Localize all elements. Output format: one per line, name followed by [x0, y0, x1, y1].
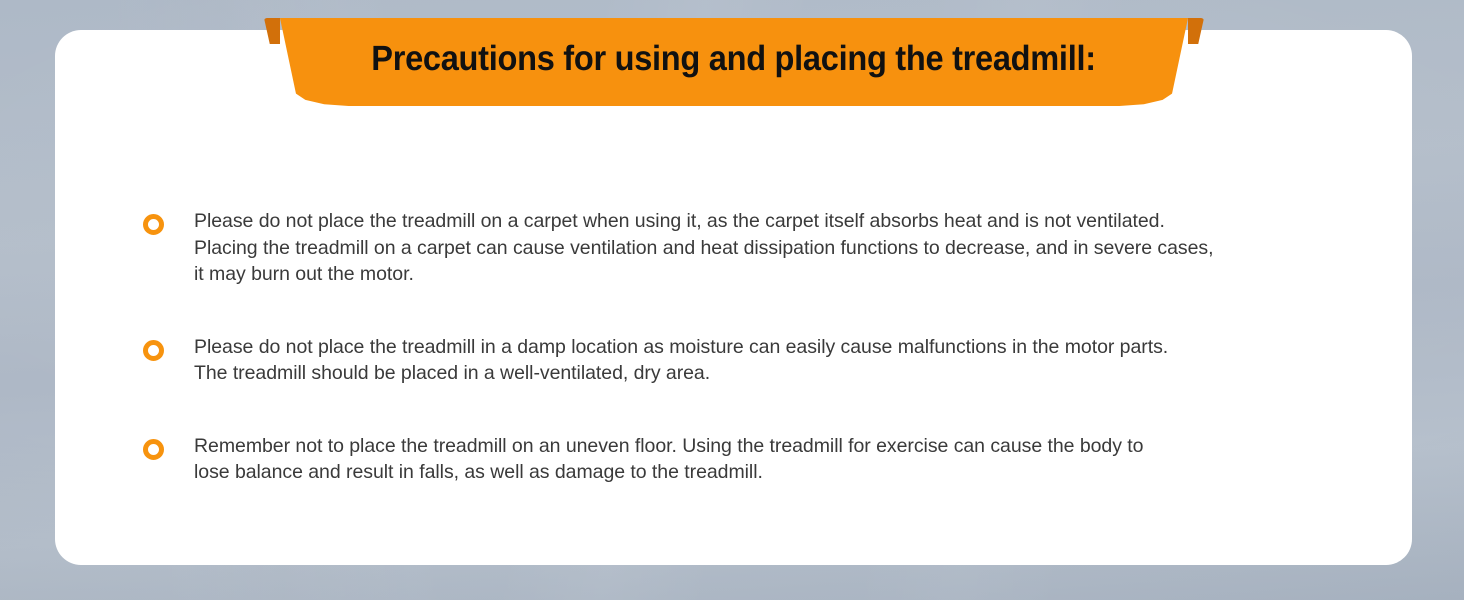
page-title: Precautions for using and placing the tr…: [372, 39, 1097, 79]
list-item: Remember not to place the treadmill on a…: [143, 433, 1443, 486]
ring-bullet-icon: [143, 214, 164, 235]
precaution-text: Remember not to place the treadmill on a…: [194, 433, 1143, 486]
banner-fold-right-icon: [1188, 18, 1204, 44]
ring-bullet-icon: [143, 439, 164, 460]
banner-fold-left-icon: [264, 18, 280, 44]
ring-bullet-icon: [143, 340, 164, 361]
precautions-card: Please do not place the treadmill on a c…: [55, 30, 1412, 565]
title-banner: Precautions for using and placing the tr…: [264, 18, 1204, 106]
list-item: Please do not place the treadmill in a d…: [143, 334, 1443, 387]
list-item: Please do not place the treadmill on a c…: [143, 208, 1443, 288]
precaution-text: Please do not place the treadmill in a d…: [194, 334, 1168, 387]
banner-ribbon: Precautions for using and placing the tr…: [264, 18, 1204, 106]
precaution-text: Please do not place the treadmill on a c…: [194, 208, 1213, 288]
precautions-list: Please do not place the treadmill on a c…: [143, 208, 1443, 486]
